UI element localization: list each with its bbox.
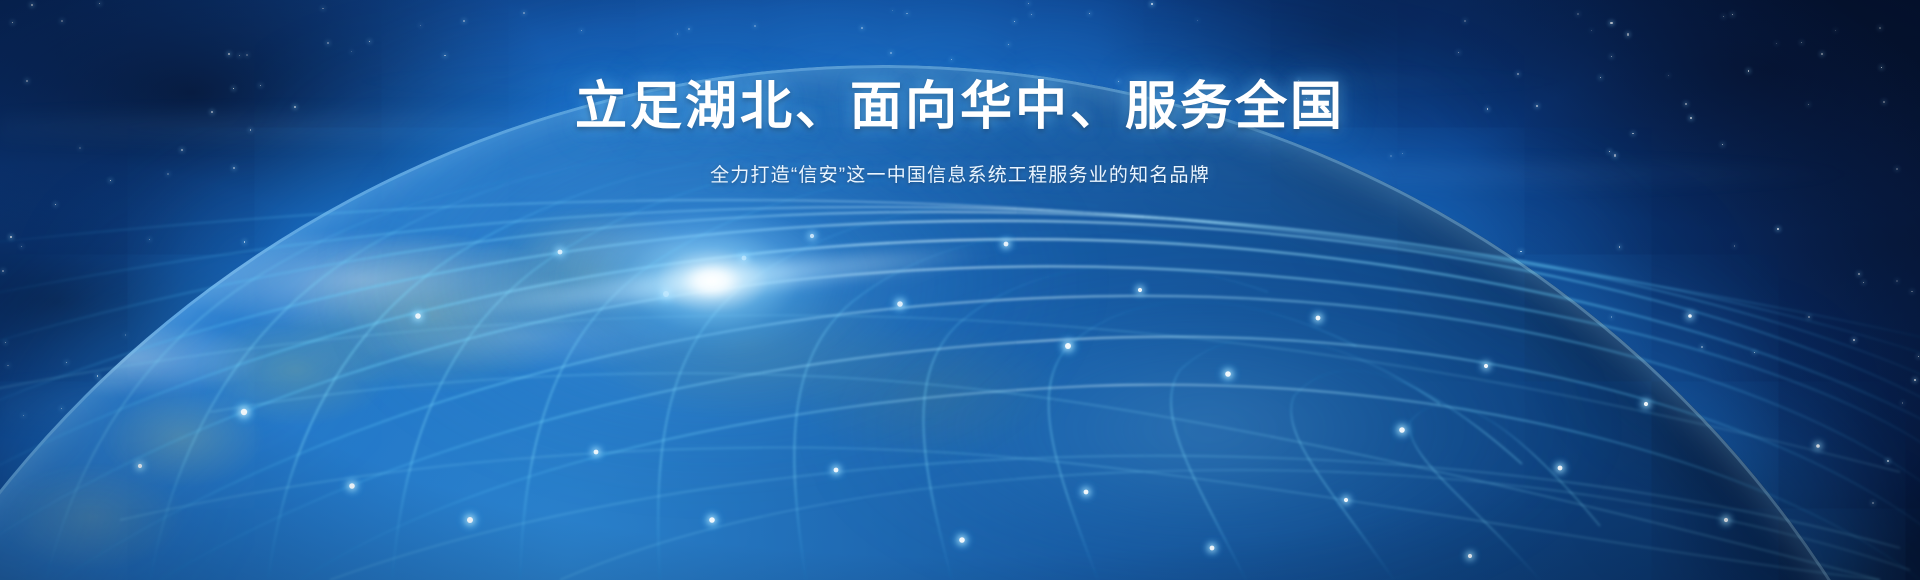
light-burst-core [502,156,922,406]
banner-subheadline: 全力打造“信安”这一中国信息系统工程服务业的知名品牌 [0,160,1920,187]
hero-banner: 立足湖北、面向华中、服务全国 全力打造“信安”这一中国信息系统工程服务业的知名品… [0,0,1920,580]
banner-headline: 立足湖北、面向华中、服务全国 [0,78,1920,136]
banner-copy: 立足湖北、面向华中、服务全国 全力打造“信安”这一中国信息系统工程服务业的知名品… [0,78,1920,187]
